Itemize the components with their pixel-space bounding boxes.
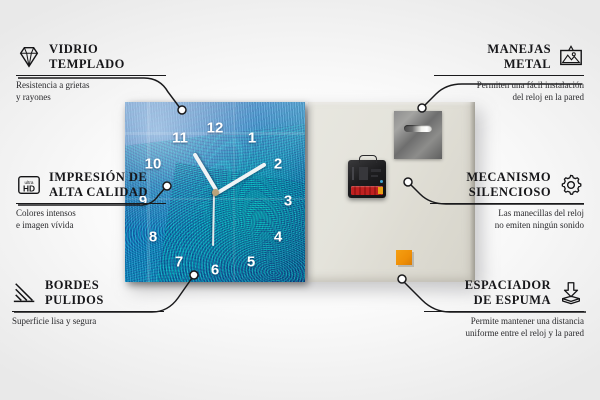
callout-description: Superficie lisa y segura [12, 316, 164, 328]
callout-title: IMPRESIÓN DE ALTA CALIDAD [49, 170, 148, 200]
callout-desc-line2: uniforme entre el reloj y la pared [424, 328, 584, 340]
hanger-slot [404, 125, 432, 132]
callout-description: Permite mantener una distancia uniforme … [424, 316, 584, 339]
clock-numeral-12: 12 [207, 121, 224, 136]
callout-manejas-metal: MANEJAS METAL Permiten una fácil instala… [434, 42, 584, 103]
callout-desc-line1: Superficie lisa y segura [12, 316, 164, 328]
callout-title-line2: DE ESPUMA [465, 293, 551, 308]
callout-desc-line2: del reloj en la pared [434, 92, 584, 104]
picture-frame-icon [558, 44, 584, 70]
callout-rule [424, 311, 584, 313]
metal-hanger-plate [394, 111, 442, 159]
hands-center-cap [212, 189, 219, 196]
clock-numeral-5: 5 [247, 255, 255, 270]
pattern-band [233, 102, 235, 282]
callout-title-line2: PULIDOS [45, 293, 104, 308]
movement-detail [371, 169, 381, 172]
callout-title-line2: ALTA CALIDAD [49, 185, 148, 200]
callout-header: VIDRIO TEMPLADO [16, 42, 166, 72]
callout-rule [16, 75, 166, 77]
callout-description: Permiten una fácil instalación del reloj… [434, 80, 584, 103]
callout-title-line1: MECANISMO [466, 170, 551, 185]
clock-numeral-6: 6 [211, 263, 219, 278]
clock-numeral-11: 11 [172, 131, 188, 146]
callout-vidrio-templado: VIDRIO TEMPLADO Resistencia a grietas y … [16, 42, 166, 103]
gear-icon [558, 172, 584, 198]
svg-text:HD: HD [23, 183, 35, 193]
callout-desc-line1: Las manecillas del reloj [430, 208, 584, 220]
callout-espaciador-de-espuma: ESPACIADOR DE ESPUMA Permite mantener un… [424, 278, 584, 339]
callout-header: BORDES PULIDOS [12, 278, 164, 308]
movement-detail [352, 167, 354, 180]
foam-spacer-icon [558, 280, 584, 306]
callout-title: BORDES PULIDOS [45, 278, 104, 308]
clock-numeral-8: 8 [149, 230, 157, 245]
callout-description: Colores intensos e imagen vívida [16, 208, 166, 231]
callout-title-line2: SILENCIOSO [466, 185, 551, 200]
callout-desc-line1: Resistencia a grietas [16, 80, 166, 92]
battery [351, 186, 383, 195]
callout-header: MANEJAS METAL [434, 42, 584, 72]
callout-header: ultra HD IMPRESIÓN DE ALTA CALIDAD [16, 170, 166, 200]
clock-numeral-1: 1 [248, 131, 256, 146]
callout-title: ESPACIADOR DE ESPUMA [465, 278, 551, 308]
product-image: 12 1 2 3 4 5 6 7 8 9 10 11 [125, 102, 475, 282]
callout-desc-line1: Permite mantener una distancia [424, 316, 584, 328]
movement-indicator [380, 180, 383, 183]
callout-title-line1: IMPRESIÓN DE [49, 170, 148, 185]
callout-description: Las manecillas del reloj no emiten ningú… [430, 208, 584, 231]
callout-title-line1: VIDRIO [49, 42, 125, 57]
callout-title: VIDRIO TEMPLADO [49, 42, 125, 72]
clock-numeral-2: 2 [274, 157, 282, 172]
clock-numeral-7: 7 [175, 255, 183, 270]
callout-title-line1: BORDES [45, 278, 104, 293]
callout-impresion-alta-calidad: ultra HD IMPRESIÓN DE ALTA CALIDAD Color… [16, 170, 166, 231]
callout-description: Resistencia a grietas y rayones [16, 80, 166, 103]
movement-detail [359, 167, 368, 180]
callout-header: MECANISMO SILENCIOSO [430, 170, 584, 200]
infographic-canvas: 12 1 2 3 4 5 6 7 8 9 10 11 [0, 0, 600, 400]
clock-numeral-4: 4 [274, 230, 282, 245]
movement-detail [371, 175, 378, 177]
callout-desc-line2: e imagen vívida [16, 220, 166, 232]
callout-title-line1: MANEJAS [487, 42, 551, 57]
polished-edges-icon [12, 280, 38, 306]
clock-movement [348, 160, 386, 198]
foam-spacer [396, 250, 412, 265]
callout-desc-line1: Colores intensos [16, 208, 166, 220]
callout-rule [12, 311, 164, 313]
callout-bordes-pulidos: BORDES PULIDOS Superficie lisa y segura [12, 278, 164, 328]
callout-desc-line2: no emiten ningún sonido [430, 220, 584, 232]
callout-desc-line1: Permiten una fácil instalación [434, 80, 584, 92]
callout-title-line2: TEMPLADO [49, 57, 125, 72]
callout-title-line2: METAL [487, 57, 551, 72]
callout-title-line1: ESPACIADOR [465, 278, 551, 293]
callout-desc-line2: y rayones [16, 92, 166, 104]
callout-title: MECANISMO SILENCIOSO [466, 170, 551, 200]
callout-mecanismo-silencioso: MECANISMO SILENCIOSO Las manecillas del … [430, 170, 584, 231]
callout-rule [430, 203, 584, 205]
callout-header: ESPACIADOR DE ESPUMA [424, 278, 584, 308]
callout-title: MANEJAS METAL [487, 42, 551, 72]
callout-rule [434, 75, 584, 77]
clock-numeral-3: 3 [284, 194, 292, 209]
ultra-hd-icon: ultra HD [16, 172, 42, 198]
callout-rule [16, 203, 166, 205]
movement-hook [359, 155, 377, 163]
diamond-icon [16, 44, 42, 70]
